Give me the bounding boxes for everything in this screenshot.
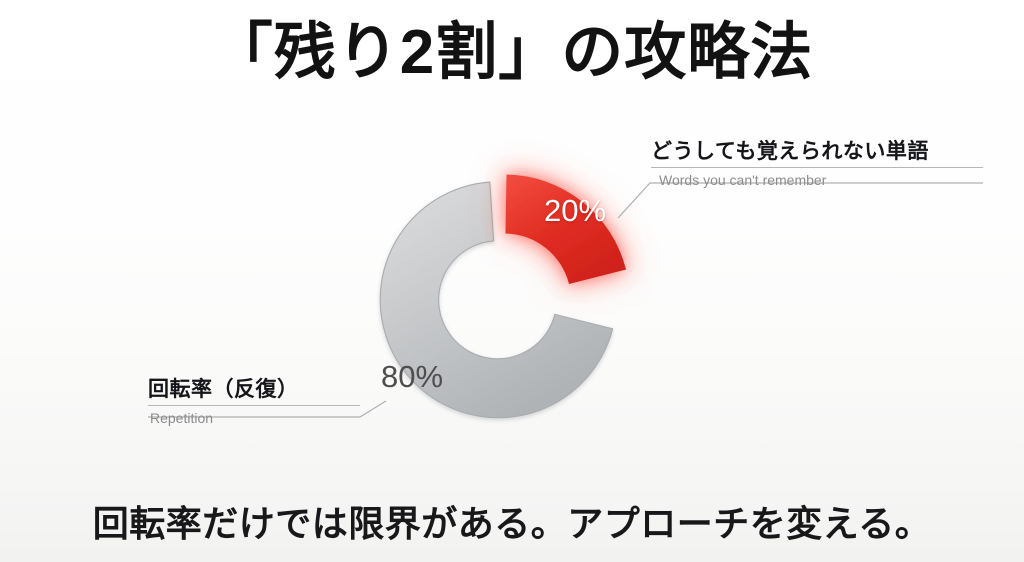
- callout-highlight[interactable]: どうしても覚えられない単語 Words you can't remember: [651, 140, 983, 189]
- callout-highlight-subtitle-en: Words you can't remember: [651, 172, 983, 189]
- donut-chart-svg: [0, 0, 1024, 562]
- donut-chart: 20% 80% どうしても覚えられない単語 Words you can't re…: [0, 0, 1024, 562]
- callout-highlight-title-jp: どうしても覚えられない単語: [651, 140, 983, 164]
- callout-base-title-jp: 回転率（反復）: [148, 378, 360, 402]
- callout-base-rule: [148, 405, 360, 406]
- callout-base[interactable]: 回転率（反復） Repetition: [148, 378, 360, 427]
- callout-base-subtitle-en: Repetition: [148, 410, 360, 427]
- slide-caption: 回転率だけでは限界がある。アプローチを変える。: [0, 495, 1024, 547]
- donut-slice-highlight[interactable]: [505, 174, 626, 283]
- callout-highlight-rule: [651, 167, 983, 168]
- slide-canvas: 「残り2割」の攻略法: [0, 0, 1024, 562]
